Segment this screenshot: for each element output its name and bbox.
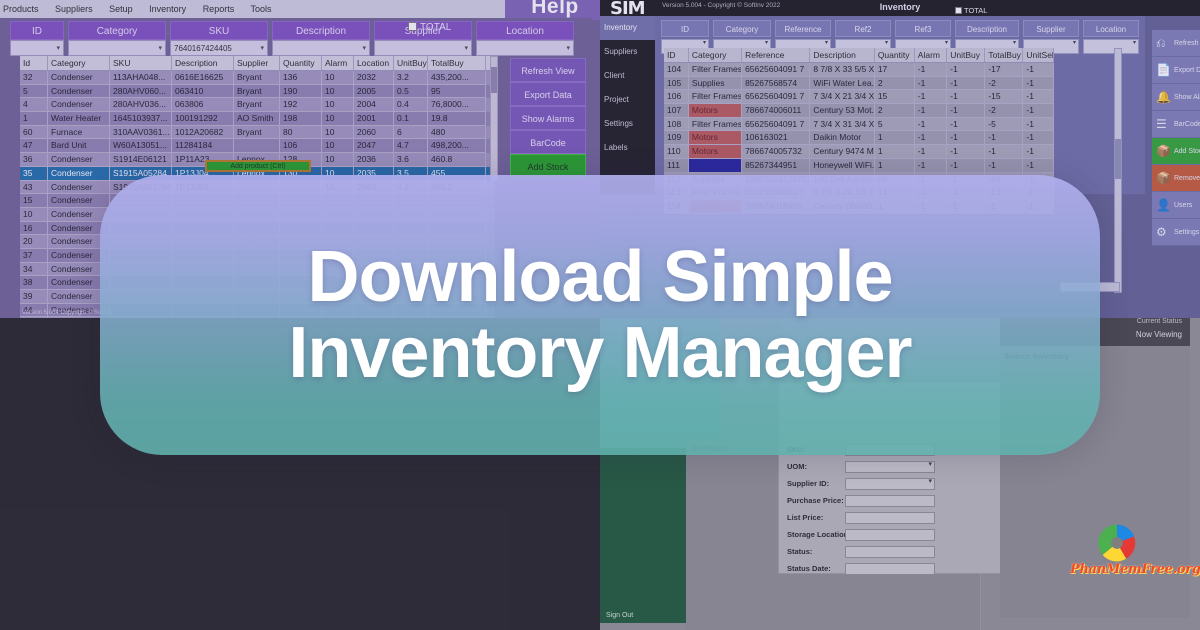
table-cell: -1 bbox=[985, 145, 1023, 159]
menu-products[interactable]: Products bbox=[3, 4, 39, 14]
table-cell: 38 bbox=[20, 276, 48, 290]
table-cell: -1 bbox=[947, 63, 985, 77]
table-cell: 100191292 bbox=[172, 112, 234, 126]
tl-filter-bar: ID Category SKU Description Supplier Loc… bbox=[8, 18, 592, 58]
alarm-icon: 🔔 bbox=[1156, 90, 1171, 104]
table-cell: 85267344951 bbox=[742, 159, 810, 173]
table-cell: Condenser bbox=[48, 71, 110, 85]
total-checkbox[interactable]: TOTAL bbox=[408, 22, 451, 33]
table-cell: 0.5 bbox=[394, 85, 428, 99]
column-header[interactable]: Quantity bbox=[875, 48, 915, 62]
table-cell: 106 bbox=[664, 90, 689, 104]
sidebar-item-settings[interactable]: Settings bbox=[600, 112, 655, 136]
barcode-icon: ☰ bbox=[1156, 117, 1167, 131]
export-icon: 📄 bbox=[1156, 63, 1171, 77]
table-row[interactable]: 4Condenser280AHV036...063806Bryant192102… bbox=[20, 98, 495, 112]
table-cell: -1 bbox=[985, 159, 1023, 173]
filter-button-location[interactable]: Location bbox=[476, 21, 574, 40]
table-cell: -1 bbox=[947, 77, 985, 91]
table-cell: -1 bbox=[1023, 104, 1054, 118]
table-cell: 10 bbox=[322, 98, 354, 112]
sidebar-item-inventory[interactable]: Inventory bbox=[600, 16, 655, 40]
table-cell: 2001 bbox=[354, 112, 394, 126]
menu-tools[interactable]: Tools bbox=[251, 4, 272, 14]
table-cell: 460.8 bbox=[428, 153, 486, 167]
table-cell: Condenser bbox=[48, 153, 110, 167]
table-cell: 4 bbox=[20, 98, 48, 112]
column-header[interactable]: Category bbox=[689, 48, 742, 62]
table-cell: 4.7 bbox=[394, 139, 428, 153]
table-cell: 063806 bbox=[172, 98, 234, 112]
table-row[interactable]: 105Supplies85267568574WiFi Water Lea...2… bbox=[664, 77, 1054, 91]
table-cell bbox=[234, 139, 280, 153]
export-data-button[interactable]: 📄Export Data bbox=[1152, 57, 1200, 84]
form-field-input[interactable] bbox=[845, 563, 935, 575]
table-cell: 106 bbox=[280, 139, 322, 153]
table-cell: 34 bbox=[20, 263, 48, 277]
filter-combo-supplier[interactable] bbox=[374, 40, 472, 56]
table-cell: 32 bbox=[20, 71, 48, 85]
now-viewing-label: Now Viewing bbox=[1136, 330, 1182, 339]
table-header-row: IdCategorySKUDescriptionSupplierQuantity… bbox=[20, 56, 495, 71]
remove-stock-button[interactable]: 📦Remove bbox=[1152, 165, 1200, 192]
tr-total-label: TOTAL bbox=[964, 6, 987, 15]
table-cell: -15 bbox=[985, 90, 1023, 104]
table-cell: 39 bbox=[20, 290, 48, 304]
form-field-row: Supplier ID: bbox=[787, 479, 1017, 492]
gear-icon: ⚙ bbox=[1156, 225, 1167, 239]
column-header[interactable]: Description bbox=[810, 48, 874, 62]
table-cell: 15 bbox=[20, 194, 48, 208]
remove-stock-icon: 📦 bbox=[1156, 171, 1171, 185]
table-cell: Bryant bbox=[234, 126, 280, 140]
column-header[interactable]: Alarm bbox=[322, 56, 354, 70]
table-cell: Condenser bbox=[48, 167, 110, 181]
table-cell: 35 bbox=[20, 167, 48, 181]
table-cell: 108 bbox=[664, 118, 689, 132]
sidebar-item-suppliers[interactable]: Suppliers bbox=[600, 40, 655, 64]
column-header[interactable]: Alarm bbox=[915, 48, 947, 62]
table-cell: Honeywell WiFi... bbox=[810, 159, 874, 173]
table-cell: 280AHV036... bbox=[110, 98, 172, 112]
table-cell: 76,8000... bbox=[428, 98, 486, 112]
table-cell: -1 bbox=[915, 131, 947, 145]
table-cell: 192 bbox=[280, 98, 322, 112]
table-cell: -1 bbox=[915, 90, 947, 104]
column-header[interactable]: Location bbox=[354, 56, 394, 70]
filter-combo-sku[interactable]: 7640167424405 bbox=[170, 40, 268, 56]
tr-vertical-scrollbar[interactable] bbox=[1114, 48, 1122, 293]
checkbox-box-icon bbox=[408, 22, 417, 31]
table-row[interactable]: 108Filter Frames65625604091 77 3/4 X 31 … bbox=[664, 118, 1054, 132]
checkbox-box-icon bbox=[955, 7, 962, 14]
table-row[interactable]: 1Water Heater1645103937...100191292AO Sm… bbox=[20, 112, 495, 126]
column-header[interactable]: Quantity bbox=[280, 56, 322, 70]
filter-button-ref2[interactable]: Ref2 bbox=[835, 20, 891, 37]
table-row[interactable]: 109Motors106163021Daikin Motor1-1-1-1-1 bbox=[664, 131, 1054, 145]
table-cell: -1 bbox=[915, 118, 947, 132]
show-alarms-button[interactable]: 🔔Show Alarms bbox=[1152, 84, 1200, 111]
table-cell: 111 bbox=[664, 159, 689, 173]
help-button[interactable]: Help bbox=[505, 0, 600, 20]
table-cell: 5 bbox=[875, 118, 915, 132]
table-cell: 3.6 bbox=[394, 153, 428, 167]
table-cell: 6 bbox=[394, 126, 428, 140]
column-header[interactable]: TotalBuy bbox=[428, 56, 486, 70]
table-cell: 1 bbox=[875, 159, 915, 173]
table-cell: -1 bbox=[947, 104, 985, 118]
menu-suppliers[interactable]: Suppliers bbox=[55, 4, 93, 14]
table-cell: 0616E16625 bbox=[172, 71, 234, 85]
table-cell: Condenser bbox=[48, 181, 110, 195]
table-cell: 8 7/8 X 33 5/5 X... bbox=[810, 63, 874, 77]
menu-inventory[interactable]: Inventory bbox=[149, 4, 186, 14]
table-cell: 2005 bbox=[354, 85, 394, 99]
table-cell: Century 53 Mot... bbox=[810, 104, 874, 118]
table-cell: 2047 bbox=[354, 139, 394, 153]
tl-version-label: Version 5.004 Copyright © SoftInv bbox=[22, 310, 112, 316]
btn-label: Users bbox=[1174, 202, 1192, 209]
table-cell: 113AHA048... bbox=[110, 71, 172, 85]
form-field-row: Purchase Price: bbox=[787, 496, 1017, 509]
sidebar-item-labels[interactable]: Labels bbox=[600, 136, 655, 160]
table-cell: -2 bbox=[985, 104, 1023, 118]
table-cell: 498,200... bbox=[428, 139, 486, 153]
table-cell: 17 bbox=[875, 63, 915, 77]
table-cell: -1 bbox=[947, 145, 985, 159]
table-cell: 15 bbox=[875, 90, 915, 104]
btn-label: Remove bbox=[1174, 175, 1200, 182]
table-cell: 7 3/4 X 21 3/4 X... bbox=[810, 90, 874, 104]
filter-button-category[interactable]: Category bbox=[713, 20, 771, 37]
table-cell: Condenser bbox=[48, 194, 110, 208]
form-field-label: List Price: bbox=[787, 513, 823, 522]
users-button[interactable]: 👤Users bbox=[1152, 192, 1200, 219]
table-cell: WiFi Water Lea... bbox=[810, 77, 874, 91]
sign-out-link[interactable]: Sign Out bbox=[606, 612, 633, 619]
menu-reports[interactable]: Reports bbox=[203, 4, 235, 14]
column-header[interactable]: Id bbox=[20, 56, 48, 70]
btn-label: BarCode bbox=[1174, 121, 1200, 128]
table-cell: 20 bbox=[20, 235, 48, 249]
table-cell: 109 bbox=[664, 131, 689, 145]
hero-title-line-1: Download Simple bbox=[307, 239, 892, 315]
table-cell: -1 bbox=[1023, 77, 1054, 91]
table-cell: Century 9474 M... bbox=[810, 145, 874, 159]
table-cell: 10 bbox=[322, 153, 354, 167]
column-header[interactable]: UnitSell bbox=[1023, 48, 1054, 62]
refresh-icon: ⎌ bbox=[1156, 36, 1166, 50]
table-cell: 063410 bbox=[172, 85, 234, 99]
form-field-select[interactable] bbox=[845, 478, 935, 490]
table-cell: 280AHV060... bbox=[110, 85, 172, 99]
export-data-button[interactable]: Export Data bbox=[510, 82, 586, 106]
table-cell: 19.8 bbox=[428, 112, 486, 126]
filter-button-ref3[interactable]: Ref3 bbox=[895, 20, 951, 37]
tr-sidebar: Inventory Suppliers Client Project Setti… bbox=[600, 16, 655, 194]
table-row[interactable]: 5Condenser280AHV060...063410Bryant190102… bbox=[20, 85, 495, 99]
btn-label: Show Alarms bbox=[1174, 94, 1200, 101]
tl-vertical-scrollbar[interactable] bbox=[490, 56, 498, 181]
show-alarms-button[interactable]: Show Alarms bbox=[510, 106, 586, 130]
table-cell: Condenser bbox=[48, 208, 110, 222]
refresh-view-button[interactable]: ⎌Refresh View bbox=[1152, 30, 1200, 57]
table-row[interactable]: 110Motors786674005732Century 9474 M...1-… bbox=[664, 145, 1054, 159]
tr-version-label: Version 5.004 - Copyright © SoftInv 2022 bbox=[662, 2, 780, 9]
table-row[interactable]: 32Condenser113AHA048...0616E16625Bryant1… bbox=[20, 71, 495, 85]
table-cell bbox=[689, 159, 742, 173]
table-row[interactable]: 104Filter Frames65625604091 78 7/8 X 33 … bbox=[664, 63, 1054, 77]
table-cell: 11284184 bbox=[172, 139, 234, 153]
filter-combo-location[interactable] bbox=[476, 40, 574, 56]
column-header[interactable]: Reference bbox=[742, 48, 810, 62]
table-cell: AO Smith bbox=[234, 112, 280, 126]
hero-overlay-card: Download Simple Inventory Manager bbox=[100, 175, 1100, 455]
table-cell: 0.4 bbox=[394, 98, 428, 112]
table-cell: Bryant bbox=[234, 98, 280, 112]
sidebar-item-client[interactable]: Client bbox=[600, 64, 655, 88]
table-cell: 786674006011 bbox=[742, 104, 810, 118]
table-cell: 136 bbox=[280, 71, 322, 85]
table-cell: -1 bbox=[915, 145, 947, 159]
table-cell: -1 bbox=[1023, 145, 1054, 159]
filter-button-supplier[interactable]: Supplier bbox=[1023, 20, 1079, 37]
form-field-label: Status Date: bbox=[787, 564, 831, 573]
hero-title-line-2: Inventory Manager bbox=[288, 315, 911, 391]
table-cell: -5 bbox=[985, 118, 1023, 132]
table-cell: -1 bbox=[1023, 90, 1054, 104]
scroll-thumb[interactable] bbox=[1115, 139, 1121, 179]
current-status-label: Current Status bbox=[1137, 318, 1182, 325]
table-row[interactable]: 60Furnace310AAV0361...1012A20682Bryant80… bbox=[20, 126, 495, 140]
table-cell: 2060 bbox=[354, 126, 394, 140]
screenshot-root: Products Suppliers Setup Inventory Repor… bbox=[0, 0, 1200, 630]
table-cell: -1 bbox=[915, 104, 947, 118]
table-cell: 107 bbox=[664, 104, 689, 118]
table-cell: 435,200... bbox=[428, 71, 486, 85]
table-cell: 10 bbox=[322, 71, 354, 85]
menu-setup[interactable]: Setup bbox=[109, 4, 133, 14]
form-field-input[interactable] bbox=[845, 546, 935, 558]
table-cell: 43 bbox=[20, 181, 48, 195]
filter-combo-category[interactable] bbox=[68, 40, 166, 56]
form-field-label: Status: bbox=[787, 547, 812, 556]
table-cell: 85267568574 bbox=[742, 77, 810, 91]
column-header[interactable]: ID bbox=[664, 48, 689, 62]
table-header-row: IDCategoryReferenceDescriptionQuantityAl… bbox=[664, 48, 1054, 63]
table-cell: -2 bbox=[985, 77, 1023, 91]
filter-button-description[interactable]: Description bbox=[955, 20, 1019, 37]
add-stock-icon: 📦 bbox=[1156, 144, 1171, 158]
form-field-input[interactable] bbox=[845, 529, 935, 541]
total-label: TOTAL bbox=[420, 22, 451, 33]
form-field-row: List Price: bbox=[787, 513, 1017, 526]
table-cell: 16 bbox=[20, 222, 48, 236]
table-cell: 10 bbox=[20, 208, 48, 222]
table-cell: Condenser bbox=[48, 98, 110, 112]
table-cell: 10 bbox=[322, 139, 354, 153]
btn-label: Settings bbox=[1174, 229, 1199, 236]
sidebar-item-project[interactable]: Project bbox=[600, 88, 655, 112]
table-cell: 1 bbox=[875, 131, 915, 145]
table-cell: -1 bbox=[947, 118, 985, 132]
table-cell: 80 bbox=[280, 126, 322, 140]
table-cell: 65625604091 7 bbox=[742, 90, 810, 104]
table-cell: Water Heater bbox=[48, 112, 110, 126]
table-cell: 2 bbox=[875, 77, 915, 91]
table-cell: Bryant bbox=[234, 71, 280, 85]
combo-location[interactable] bbox=[1083, 39, 1139, 54]
table-cell: 480 bbox=[428, 126, 486, 140]
table-row[interactable]: 11185267344951Honeywell WiFi...1-1-1-1-1 bbox=[664, 159, 1054, 173]
table-cell: 37 bbox=[20, 249, 48, 263]
pinwheel-logo-icon bbox=[1096, 522, 1138, 564]
watermark-text: PhanMemFree.org bbox=[1070, 562, 1170, 577]
table-cell: 106163021 bbox=[742, 131, 810, 145]
table-cell: 110 bbox=[664, 145, 689, 159]
table-cell: 2 bbox=[875, 104, 915, 118]
table-cell: 65625604091 7 bbox=[742, 118, 810, 132]
table-cell: Motors bbox=[689, 104, 742, 118]
table-cell: 47 bbox=[20, 139, 48, 153]
form-field-input[interactable] bbox=[845, 512, 935, 524]
filter-button-reference[interactable]: Reference bbox=[775, 20, 831, 37]
table-cell: 36 bbox=[20, 153, 48, 167]
filter-button-location[interactable]: Location bbox=[1083, 20, 1139, 37]
table-cell: -1 bbox=[915, 159, 947, 173]
btn-label: Export Data bbox=[1174, 67, 1200, 74]
form-field-label: Storage Location: bbox=[787, 530, 851, 539]
table-cell: S1914E06121 bbox=[110, 153, 172, 167]
filter-button-sku[interactable]: SKU bbox=[170, 21, 268, 40]
table-cell: 3.2 bbox=[394, 71, 428, 85]
column-header[interactable]: UnitBuy bbox=[947, 48, 985, 62]
table-cell: W60A13051... bbox=[110, 139, 172, 153]
table-cell: 0.1 bbox=[394, 112, 428, 126]
table-cell: -1 bbox=[1023, 131, 1054, 145]
table-cell: -1 bbox=[947, 159, 985, 173]
table-cell: -1 bbox=[985, 131, 1023, 145]
barcode-button[interactable]: ☰BarCode bbox=[1152, 111, 1200, 138]
table-cell: Motors bbox=[689, 145, 742, 159]
table-cell: -1 bbox=[1023, 118, 1054, 132]
table-cell: 65625604091 7 bbox=[742, 63, 810, 77]
table-cell: 5 bbox=[20, 85, 48, 99]
table-cell: -1 bbox=[915, 77, 947, 91]
filter-button-category[interactable]: Category bbox=[68, 21, 166, 40]
table-cell: 1645103937... bbox=[110, 112, 172, 126]
phanmemfree-watermark: PhanMemFree.org bbox=[1070, 522, 1170, 586]
table-cell: -1 bbox=[947, 131, 985, 145]
table-row[interactable]: 106Filter Frames65625604091 77 3/4 X 21 … bbox=[664, 90, 1054, 104]
table-cell: Condenser bbox=[48, 85, 110, 99]
settings-button[interactable]: ⚙Settings bbox=[1152, 219, 1200, 246]
table-row[interactable]: 107Motors786674006011Century 53 Mot...2-… bbox=[664, 104, 1054, 118]
table-cell: 10 bbox=[322, 112, 354, 126]
table-cell: 104 bbox=[664, 63, 689, 77]
form-field-label: Purchase Price: bbox=[787, 496, 844, 505]
table-cell: 1 bbox=[20, 112, 48, 126]
user-icon: 👤 bbox=[1156, 198, 1171, 212]
form-field-row: Status: bbox=[787, 547, 1017, 560]
add-product-tooltip: Add product (Ctrl) bbox=[205, 160, 311, 172]
add-stock-button[interactable]: 📦Add Stock bbox=[1152, 138, 1200, 165]
tr-total-checkbox[interactable]: TOTAL bbox=[955, 6, 987, 15]
form-field-select[interactable] bbox=[845, 461, 935, 473]
column-header[interactable]: Category bbox=[48, 56, 110, 70]
table-cell: 198 bbox=[280, 112, 322, 126]
table-cell: Motors bbox=[689, 131, 742, 145]
filter-button-description[interactable]: Description bbox=[272, 21, 370, 40]
table-cell: Bryant bbox=[234, 85, 280, 99]
table-cell: -17 bbox=[985, 63, 1023, 77]
table-cell: 10 bbox=[322, 85, 354, 99]
column-header[interactable]: TotalBuy bbox=[985, 48, 1023, 62]
table-cell: Bard Unit bbox=[48, 139, 110, 153]
table-cell: Furnace bbox=[48, 126, 110, 140]
form-field-input[interactable] bbox=[845, 495, 935, 507]
table-cell: Daikin Motor bbox=[810, 131, 874, 145]
scroll-thumb[interactable] bbox=[491, 67, 497, 93]
table-cell: Filter Frames bbox=[689, 118, 742, 132]
table-cell: Filter Frames bbox=[689, 90, 742, 104]
table-cell: -1 bbox=[1023, 159, 1054, 173]
form-field-label: UOM: bbox=[787, 462, 807, 471]
table-row[interactable]: 47Bard UnitW60A13051...11284184106102047… bbox=[20, 139, 495, 153]
table-cell: -1 bbox=[947, 90, 985, 104]
table-cell: 2036 bbox=[354, 153, 394, 167]
form-field-row: Storage Location: bbox=[787, 530, 1017, 543]
form-field-row: UOM: bbox=[787, 462, 1017, 475]
table-cell: 1012A20682 bbox=[172, 126, 234, 140]
form-field-label: Supplier ID: bbox=[787, 479, 829, 488]
table-cell: 190 bbox=[280, 85, 322, 99]
table-cell: 60 bbox=[20, 126, 48, 140]
barcode-button[interactable]: BarCode bbox=[510, 130, 586, 154]
table-cell: Supplies bbox=[689, 77, 742, 91]
br-green-nav bbox=[600, 448, 686, 623]
column-header[interactable]: Description bbox=[172, 56, 234, 70]
table-cell: 2004 bbox=[354, 98, 394, 112]
table-cell: 105 bbox=[664, 77, 689, 91]
table-cell: 1 bbox=[875, 145, 915, 159]
refresh-view-button[interactable]: Refresh View bbox=[510, 58, 586, 82]
table-cell: 7 3/4 X 31 3/4 X... bbox=[810, 118, 874, 132]
column-header[interactable]: UnitBuy bbox=[394, 56, 428, 70]
table-cell: -1 bbox=[915, 63, 947, 77]
filter-combo-id[interactable] bbox=[10, 40, 64, 56]
column-header[interactable]: Supplier bbox=[234, 56, 280, 70]
filter-button-id[interactable]: ID bbox=[10, 21, 64, 40]
btn-label: Add Stock bbox=[1174, 148, 1200, 155]
table-cell: 786674005732 bbox=[742, 145, 810, 159]
filter-button-id[interactable]: ID bbox=[661, 20, 709, 37]
column-header[interactable]: SKU bbox=[110, 56, 172, 70]
table-cell: -1 bbox=[1023, 63, 1054, 77]
table-cell: 10 bbox=[322, 126, 354, 140]
table-cell: 310AAV0361... bbox=[110, 126, 172, 140]
table-cell: Filter Frames bbox=[689, 63, 742, 77]
form-field-row: Status Date: bbox=[787, 564, 1017, 577]
table-cell: 2032 bbox=[354, 71, 394, 85]
table-cell: 95 bbox=[428, 85, 486, 99]
filter-combo-description[interactable] bbox=[272, 40, 370, 56]
btn-label: Refresh View bbox=[1174, 40, 1200, 47]
